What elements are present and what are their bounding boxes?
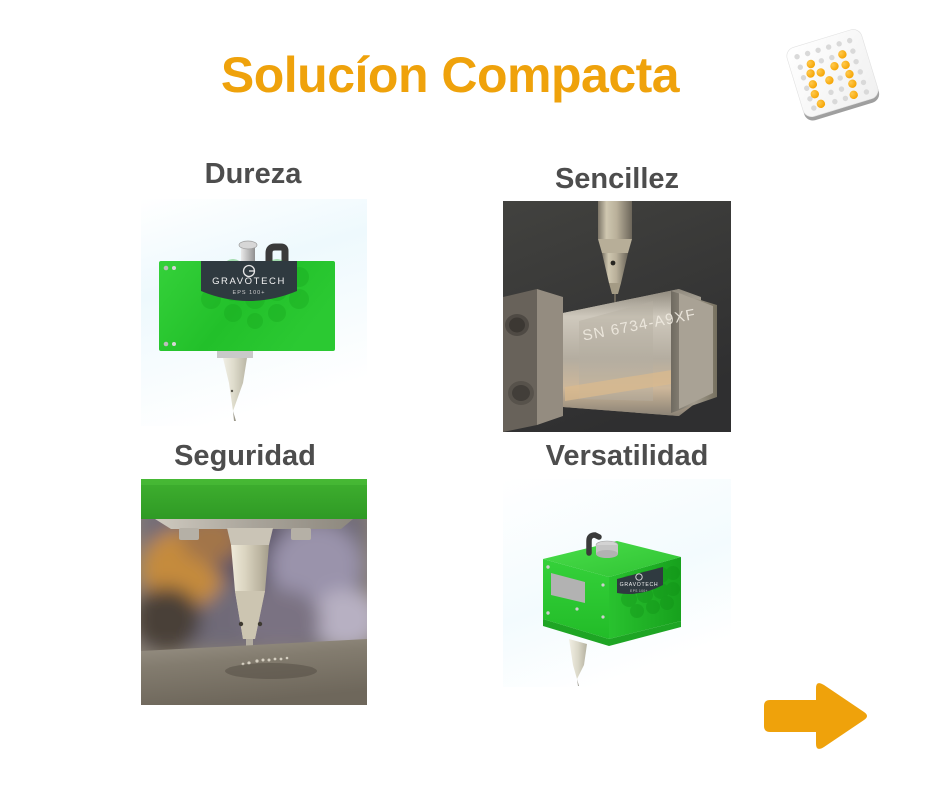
svg-text:EPS 100+: EPS 100+ [233, 290, 266, 296]
gravotech-dot-plate-logo [781, 25, 886, 125]
svg-text:GRAVOTECH: GRAVOTECH [620, 582, 659, 588]
green-marking-head-front-view: GRAVOTECH EPS 100+ [141, 199, 367, 426]
next-arrow[interactable] [760, 680, 870, 752]
feature-heading-seguridad: Seguridad [145, 440, 345, 473]
svg-text:GRAVOTECH: GRAVOTECH [212, 276, 286, 287]
feature-heading-versatilidad: Versatilidad [522, 440, 732, 473]
feature-heading-sencillez: Sencillez [517, 163, 717, 196]
green-marking-head-perspective-view: GRAVOTECH EPS 100+ [503, 479, 731, 687]
feature-heading-dureza: Dureza [153, 158, 353, 191]
svg-text:EPS 100+: EPS 100+ [630, 589, 648, 593]
page-title: Solucíon Compacta [0, 46, 900, 104]
slide-canvas: Solucíon Compacta [0, 0, 940, 788]
marking-head-closeup-safety [141, 479, 367, 705]
stylus-marking-metal-part: SN 6734-A9XF [503, 201, 731, 432]
